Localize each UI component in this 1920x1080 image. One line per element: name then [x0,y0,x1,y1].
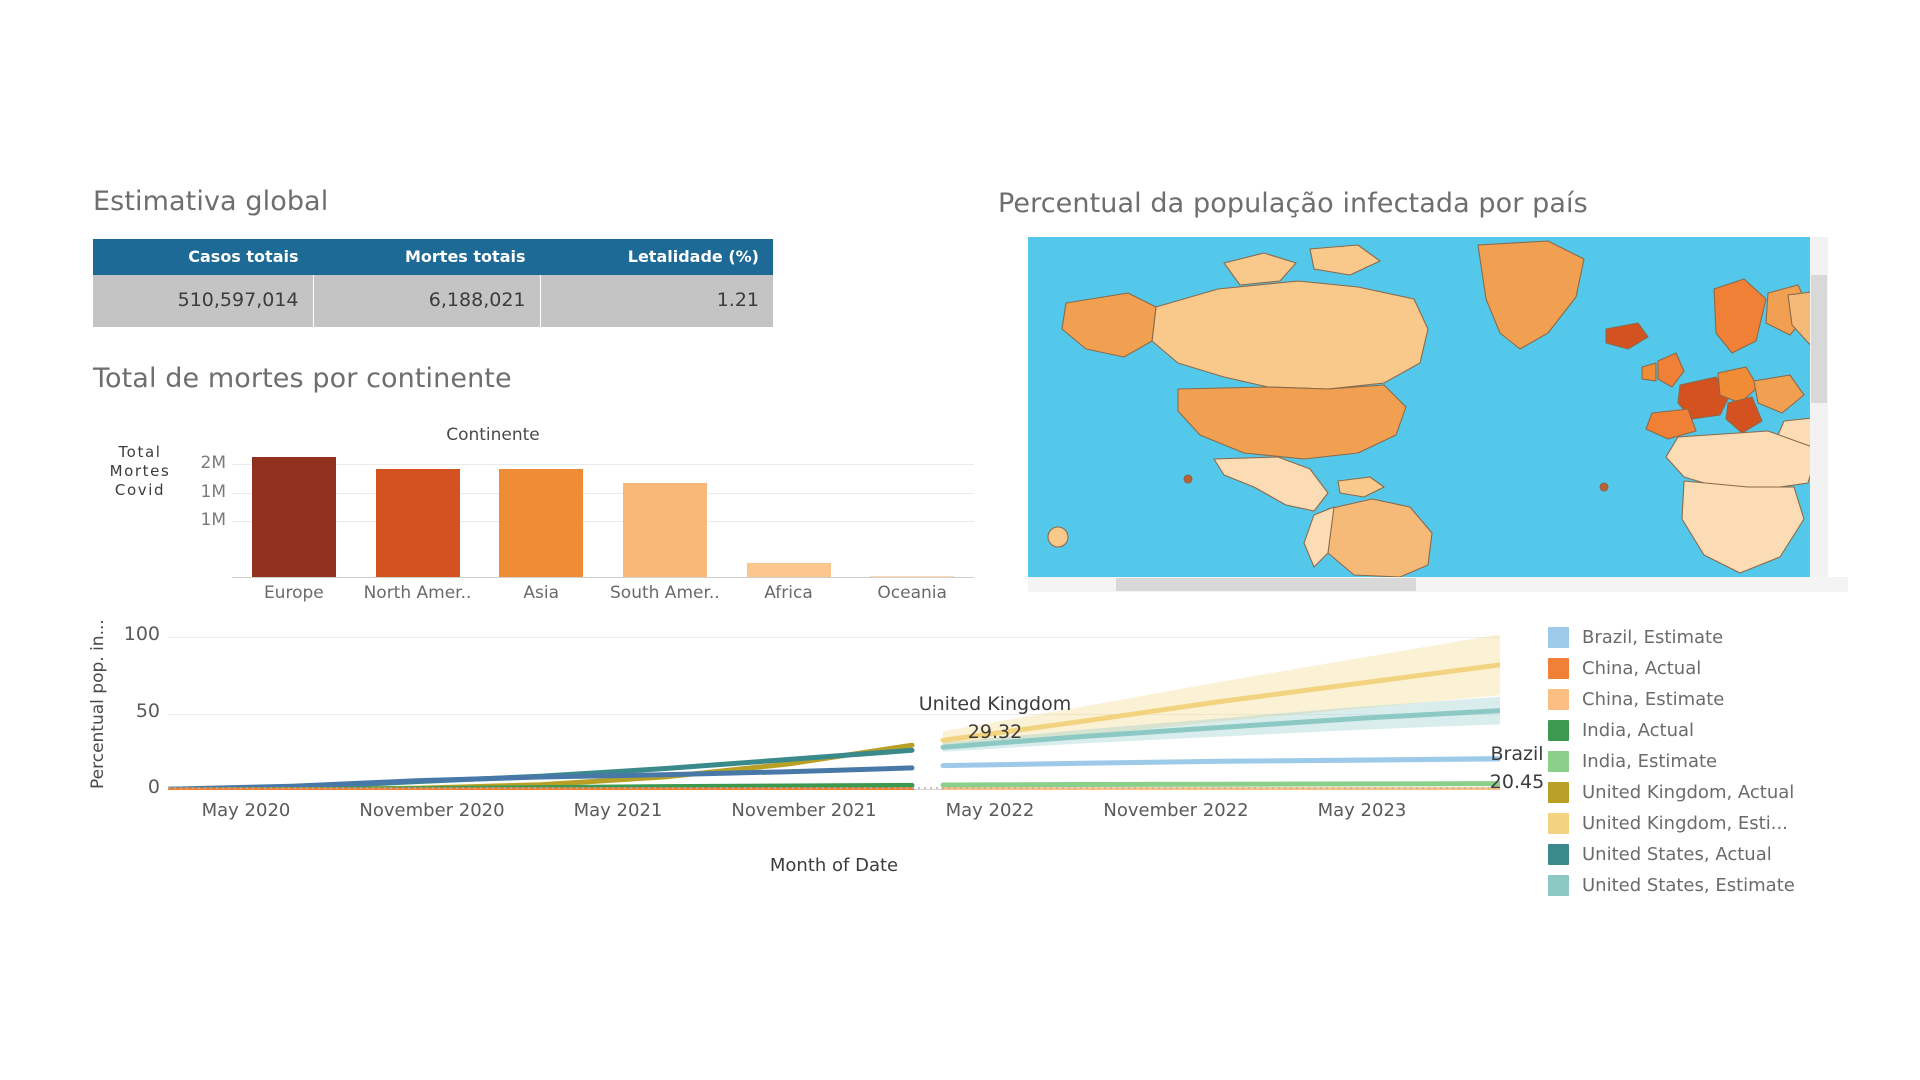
map-horizontal-scrollbar[interactable] [1028,577,1848,592]
bar-chart-x-axis-title: Continente [93,425,893,445]
legend-item-label: United Kingdom, Esti... [1582,813,1788,834]
legend-item[interactable]: United States, Actual [1548,839,1848,870]
bar-y-tick-label: 1M [201,482,226,502]
annotation-united-kingdom: United Kingdom 29.32 [895,690,1095,746]
cell-total-cases: 510,597,014 [93,275,313,327]
line-x-tick-label: May 2022 [946,800,1035,821]
bar-y-tick-label: 1M [201,510,226,530]
legend-item-label: United Kingdom, Actual [1582,782,1794,803]
cell-fatality-rate: 1.21 [540,275,773,327]
island-atlantic-1[interactable] [1600,483,1608,491]
bar-chart-plot-area [232,447,974,578]
bar-category-label[interactable]: South Amer.. [603,583,727,603]
bar-ylabel-line-2: Mortes [100,462,180,481]
map-vertical-scroll-thumb[interactable] [1811,275,1827,403]
header-total-deaths[interactable]: Mortes totais [313,239,540,275]
bar-slot [603,446,727,577]
kpi-table-element: Casos totais Mortes totais Letalidade (%… [93,239,773,328]
legend-color-swatch [1548,844,1569,865]
bar-category-label[interactable]: Oceania [850,583,974,603]
legend-item[interactable]: Brazil, Estimate [1548,622,1848,653]
line-chart-legend: Brazil, EstimateChina, ActualChina, Esti… [1548,622,1848,901]
legend-item-label: United States, Actual [1582,844,1772,865]
island-hawaii[interactable] [1048,527,1068,547]
map-panel-title: Percentual da população infectada por pa… [998,188,1588,219]
line-chart-y-axis-title: Percentual pop. in... [88,614,110,794]
line-unitedkingdomactual[interactable] [168,745,912,790]
bar-slot [479,446,603,577]
legend-item[interactable]: India, Actual [1548,715,1848,746]
header-fatality-rate[interactable]: Letalidade (%) [540,239,773,275]
bar-panel-title: Total de mortes por continente [93,363,512,394]
legend-item-label: China, Actual [1582,658,1701,679]
bar-category-label[interactable]: Africa [727,583,851,603]
legend-item-label: China, Estimate [1582,689,1724,710]
bar-slot [232,446,356,577]
bar-ylabel-line-1: Total [100,443,180,462]
bar-northamer[interactable] [376,469,460,577]
bar-chart-y-axis-title: Total Mortes Covid [100,443,180,500]
line-y-tick-label: 50 [136,700,160,722]
legend-item[interactable]: China, Actual [1548,653,1848,684]
bar-slot [727,446,851,577]
legend-color-swatch [1548,720,1569,741]
line-chart-plot-area [168,622,1500,790]
bar-oceania[interactable] [870,576,954,577]
bar-slot [356,446,480,577]
global-estimate-table: Casos totais Mortes totais Letalidade (%… [93,239,773,328]
bar-slot [850,446,974,577]
bar-category-label[interactable]: North Amer.. [356,583,480,603]
line-chart-y-ticks: 050100 [110,620,160,790]
bar-africa[interactable] [747,563,831,577]
line-chart-x-ticks: May 2020November 2020May 2021November 20… [168,798,1500,826]
header-total-cases[interactable]: Casos totais [93,239,313,275]
world-map-panel[interactable] [1028,237,1848,592]
map-vertical-scrollbar[interactable] [1810,237,1828,577]
legend-color-swatch [1548,751,1569,772]
line-x-tick-label: May 2023 [1318,800,1407,821]
line-x-tick-label: May 2021 [574,800,663,821]
legend-color-swatch [1548,627,1569,648]
kpi-panel-title: Estimativa global [93,186,328,217]
legend-item[interactable]: India, Estimate [1548,746,1848,777]
legend-color-swatch [1548,689,1569,710]
legend-color-swatch [1548,658,1569,679]
line-x-tick-label: November 2022 [1103,800,1248,821]
legend-color-swatch [1548,813,1569,834]
table-row: 510,597,014 6,188,021 1.21 [93,275,773,327]
legend-item[interactable]: United Kingdom, Actual [1548,777,1848,808]
bar-ylabel-line-3: Covid [100,481,180,500]
legend-item-label: India, Estimate [1582,751,1717,772]
cell-total-deaths: 6,188,021 [313,275,540,327]
table-header-row: Casos totais Mortes totais Letalidade (%… [93,239,773,275]
legend-item-label: Brazil, Estimate [1582,627,1723,648]
legend-item-label: India, Actual [1582,720,1694,741]
dashboard: Estimativa global Casos totais Mortes to… [0,0,1920,1080]
legend-item[interactable]: United Kingdom, Esti... [1548,808,1848,839]
line-indiaestimate[interactable] [943,784,1500,785]
bar-chart-category-labels: EuropeNorth Amer..AsiaSouth Amer..Africa… [232,583,974,603]
bar-europe[interactable] [252,457,336,577]
map-horizontal-scroll-thumb[interactable] [1116,578,1416,591]
bar-asia[interactable] [499,469,583,577]
line-chart-svg [168,622,1500,790]
world-map-canvas[interactable] [1028,237,1828,577]
bar-category-label[interactable]: Europe [232,583,356,603]
line-x-tick-label: May 2020 [202,800,291,821]
bar-chart-y-ticks: 2M1M1M [178,447,226,575]
line-y-tick-label: 0 [148,776,160,798]
legend-item-label: United States, Estimate [1582,875,1795,896]
legend-color-swatch [1548,782,1569,803]
line-chart-x-axis-title: Month of Date [168,855,1500,876]
line-x-tick-label: November 2021 [731,800,876,821]
world-map-svg[interactable] [1028,237,1828,577]
legend-color-swatch [1548,875,1569,896]
line-y-tick-label: 100 [124,623,160,645]
annotation-uk-label: United Kingdom [895,690,1095,718]
annotation-uk-value: 29.32 [895,718,1095,746]
bar-y-tick-label: 2M [201,453,226,473]
legend-item[interactable]: China, Estimate [1548,684,1848,715]
bar-category-label[interactable]: Asia [479,583,603,603]
legend-item[interactable]: United States, Estimate [1548,870,1848,901]
island-pacific-1[interactable] [1184,475,1192,483]
line-x-tick-label: November 2020 [359,800,504,821]
bar-southamer[interactable] [623,483,707,577]
bar-series [232,446,974,577]
